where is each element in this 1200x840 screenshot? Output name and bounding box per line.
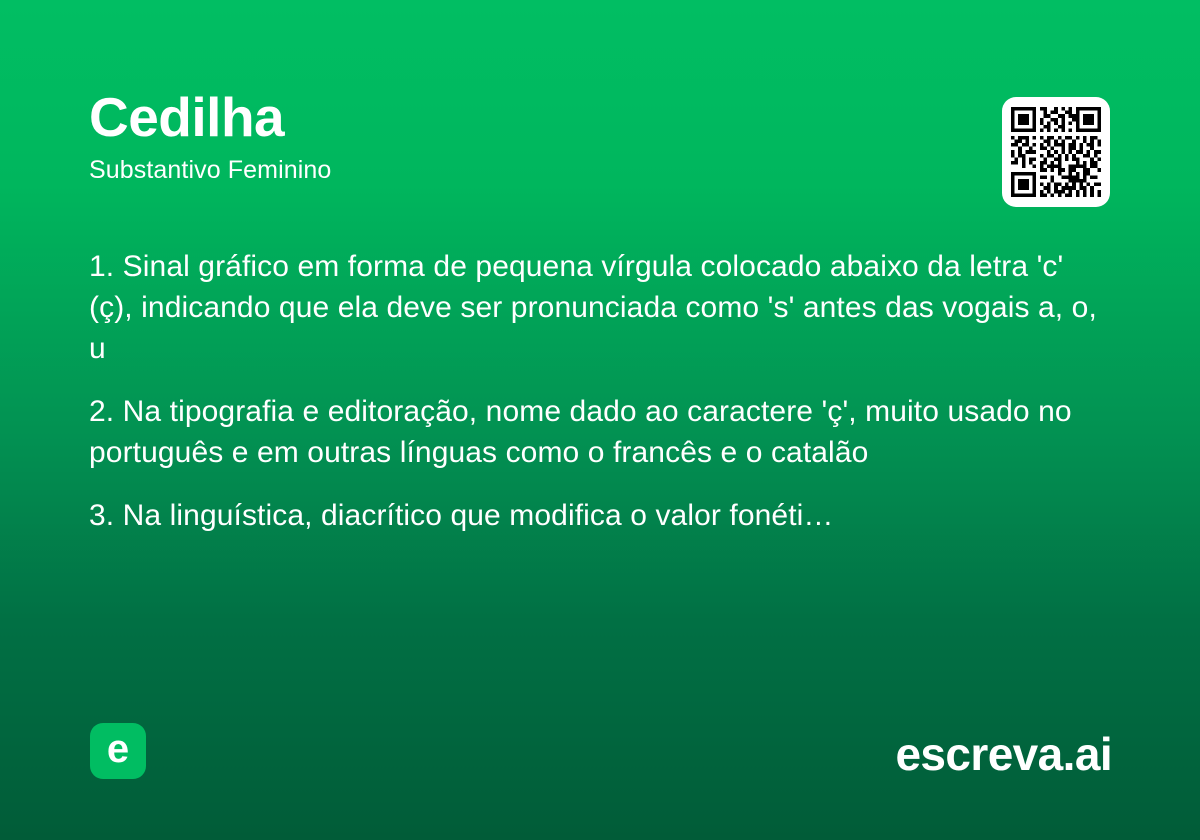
card-header: Cedilha Substantivo Feminino xyxy=(89,88,1111,185)
page-title: Cedilha xyxy=(89,88,1111,147)
brand-wordmark: escreva.ai xyxy=(895,729,1112,780)
logo-letter: e xyxy=(107,729,129,769)
escreva-logo-icon: e xyxy=(90,723,146,779)
definition-item: 1. Sinal gráfico em forma de pequena vír… xyxy=(89,246,1109,369)
dictionary-card: Cedilha Substantivo Feminino xyxy=(0,0,1200,840)
definition-item: 2. Na tipografia e editoração, nome dado… xyxy=(89,391,1109,473)
word-class-label: Substantivo Feminino xyxy=(89,155,1111,185)
qr-code-icon[interactable] xyxy=(1002,97,1110,207)
definition-item: 3. Na linguística, diacrítico que modifi… xyxy=(89,495,1109,536)
definition-list: 1. Sinal gráfico em forma de pequena vír… xyxy=(89,246,1109,536)
